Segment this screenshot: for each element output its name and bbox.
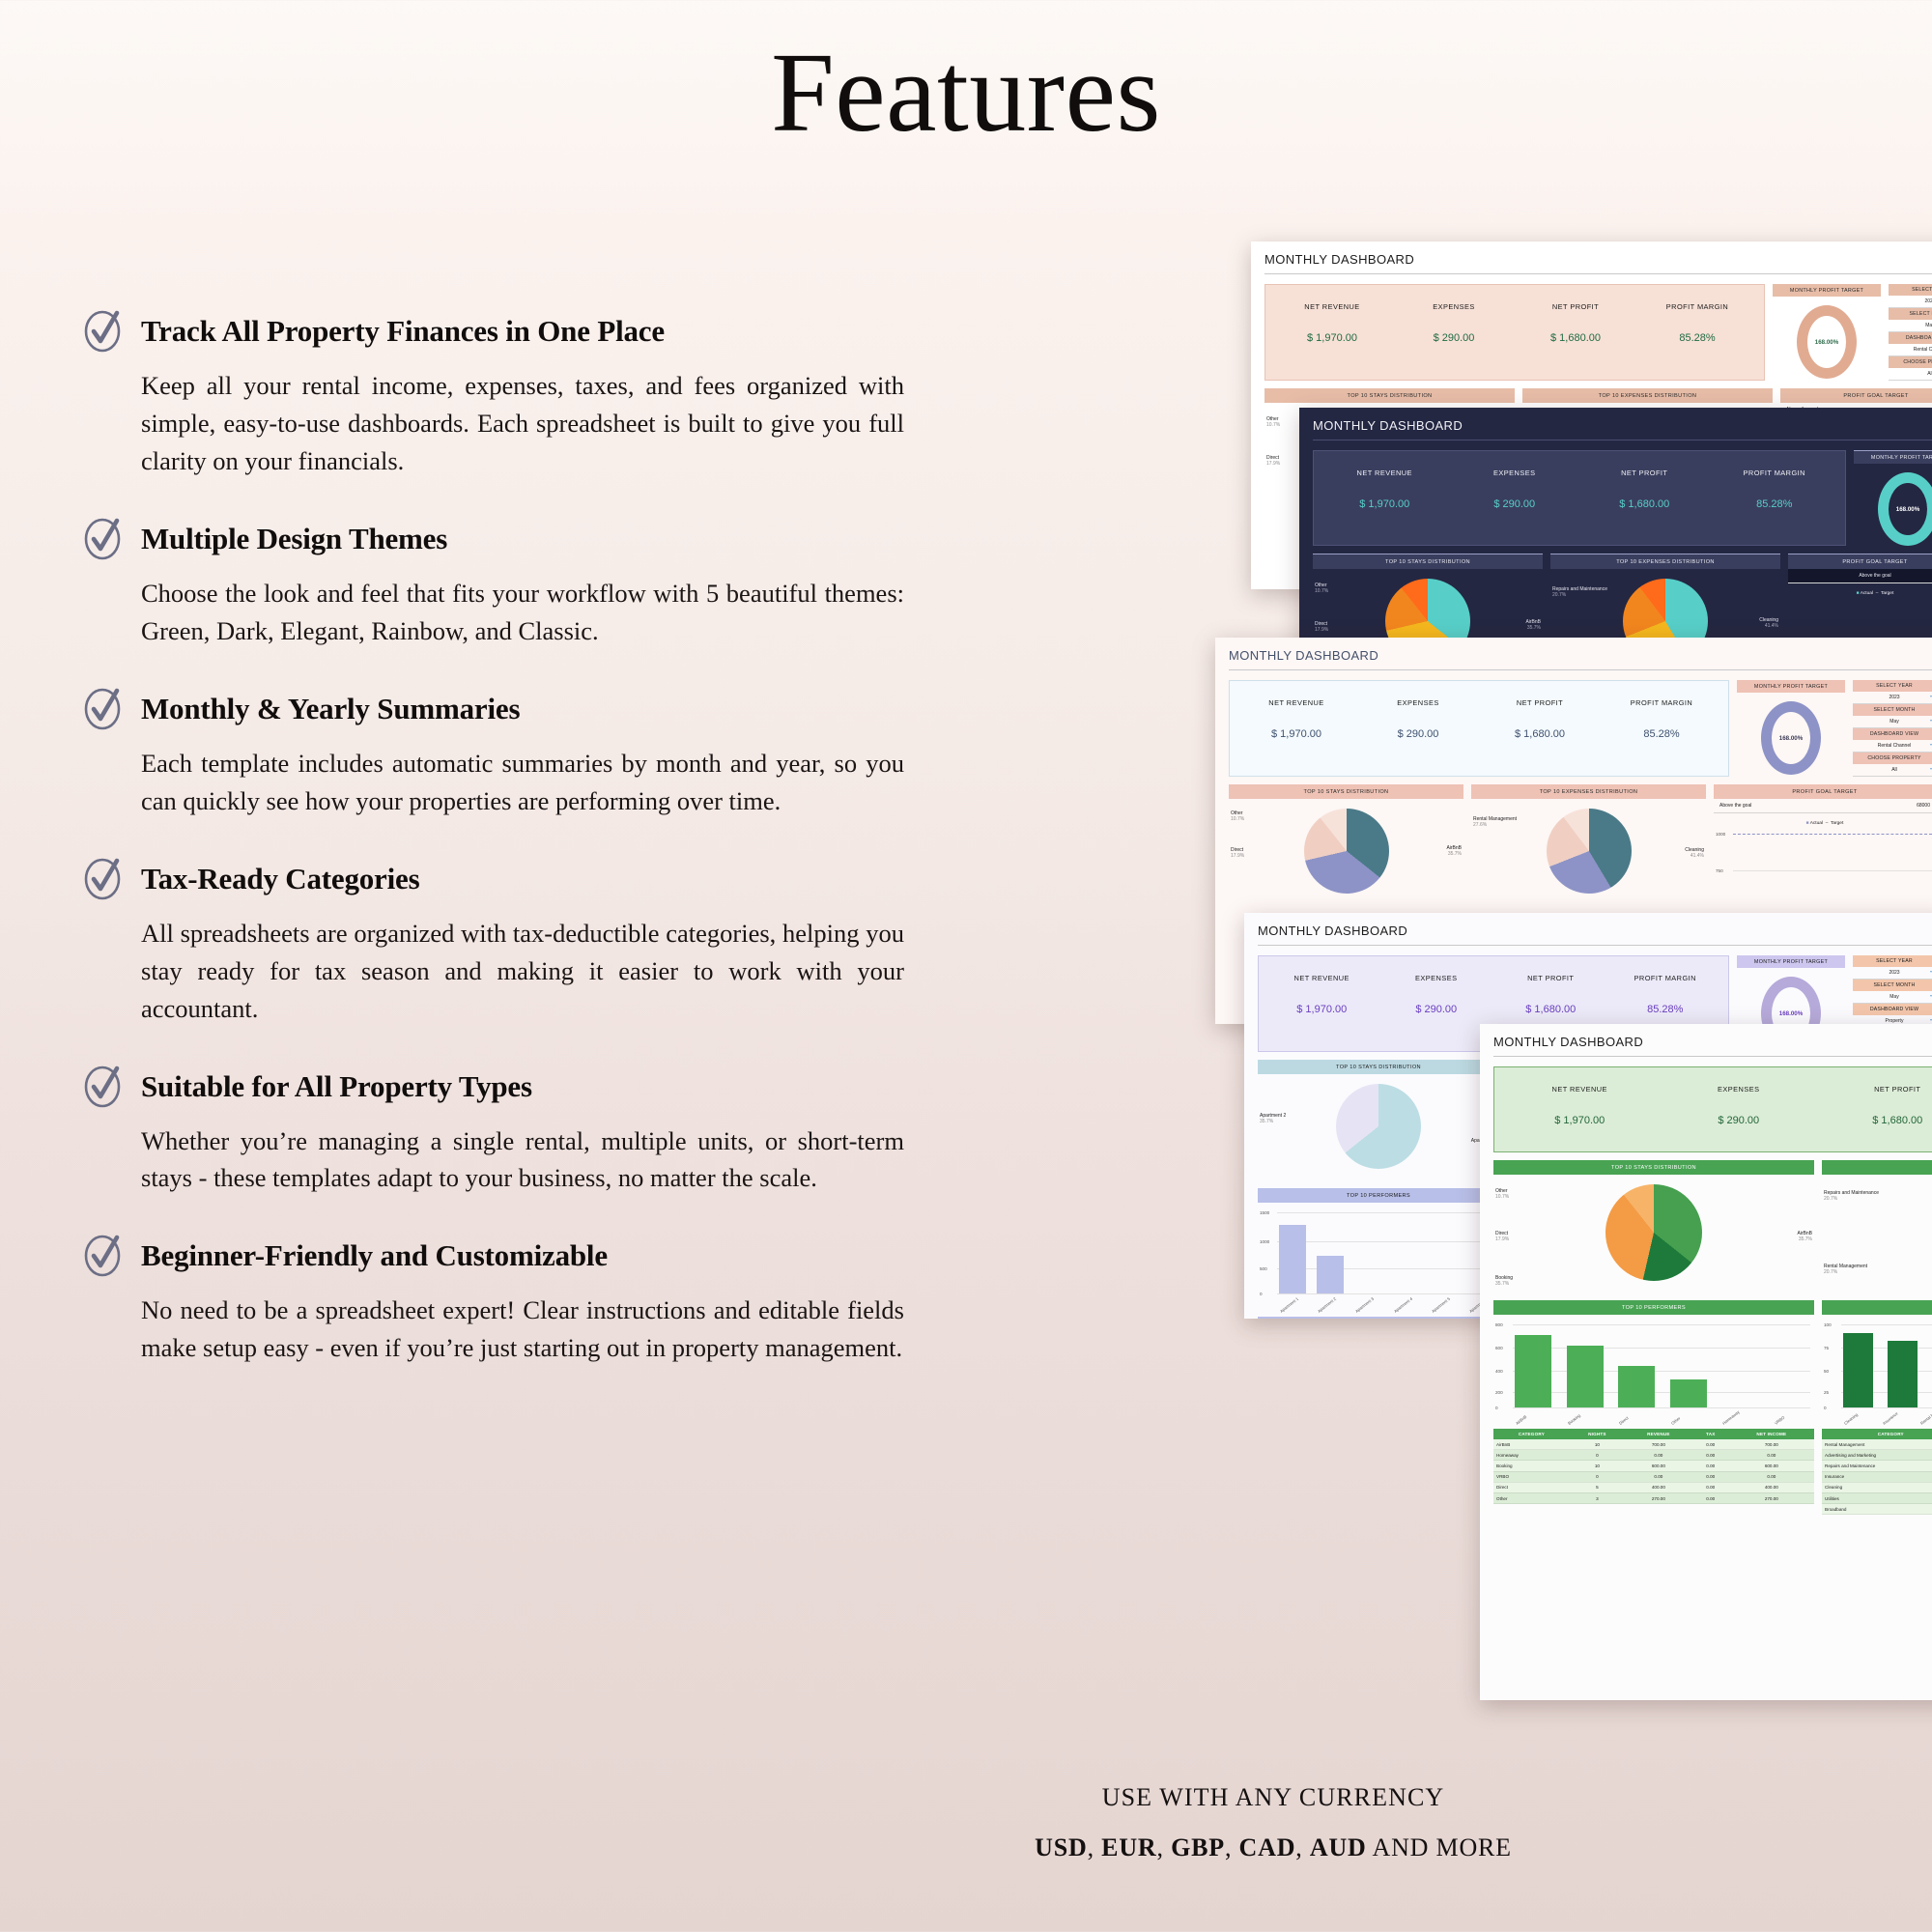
section-performers-label: TOP 10 PERFORMERS <box>1258 1188 1499 1203</box>
kpi-label: NET PROFIT <box>1515 302 1636 311</box>
goal-line: Above the goal <box>1788 569 1932 583</box>
currency-code-aud: AUD <box>1310 1833 1367 1861</box>
filter-label-year: SELECT YEAR <box>1853 680 1932 692</box>
bar-category-labels: CleaningInsuranceRental Management Repai… <box>1843 1422 1932 1427</box>
profit-target-panel: MONTHLY PROFIT TARGET 168.00% <box>1773 284 1881 381</box>
filter-panel: SELECT YEAR 2023 SELECT MONTH May DASHBO… <box>1853 680 1932 777</box>
kpi-expenses: EXPENSES $ 290.00 <box>1660 1085 1819 1126</box>
kpi-value: 85.28% <box>1601 728 1722 740</box>
feature-body: Whether you’re managing a single rental,… <box>141 1122 904 1198</box>
kpi-net-revenue: NET REVENUE $ 1,970.00 <box>1264 974 1379 1026</box>
donut-label-direct: Direct17.9% <box>1231 847 1244 860</box>
col-net-income: NET INCOME <box>1729 1429 1814 1439</box>
donut-label-other: Other10.7% <box>1231 810 1244 823</box>
performers-bar-chart: 1500 1000 500 0 Apartment 1Apartment 2Ap… <box>1258 1203 1499 1317</box>
kpi-label: EXPENSES <box>1393 302 1515 311</box>
section-goal: PROFIT GOAL TARGET Above the goal 68000 … <box>1714 784 1932 913</box>
kpi-label: NET REVENUE <box>1320 469 1450 477</box>
kpi-value: 85.28% <box>1636 332 1758 344</box>
kpi-expenses: EXPENSES $ 290.00 <box>1450 469 1580 520</box>
section-expenses: TOP 10 EXPENSES DISTRIBUTION Rental Mana… <box>1471 784 1706 913</box>
kpi-panel: NET REVENUE $ 1,970.00 EXPENSES $ 290.00… <box>1264 284 1765 381</box>
section-stays: TOP 10 STAYS DISTRIBUTION Other10.7% Dir… <box>1493 1160 1814 1515</box>
expenses-bar-chart: 100 75 50 25 0 CleaningInsuranceRental M… <box>1822 1315 1932 1429</box>
col-category: CATEGORY <box>1822 1429 1932 1439</box>
page-title: Features <box>0 0 1932 153</box>
table-row: Homeaway00.000.000.00 <box>1493 1450 1814 1461</box>
col-nights: NIGHTS <box>1570 1429 1625 1439</box>
kpi-label: NET REVENUE <box>1271 302 1393 311</box>
dashboard-title: MONTHLY DASHBOARD <box>1215 638 1932 669</box>
kpi-label: PROFIT MARGIN <box>1636 302 1758 311</box>
kpi-expenses: EXPENSES $ 290.00 <box>1393 302 1515 355</box>
feature-item: Multiple Design Themes Choose the look a… <box>81 517 912 650</box>
section-headers-row: TOP 10 STAYS DISTRIBUTION Other10.7% Dir… <box>1480 1152 1932 1515</box>
feature-heading-row: Tax-Ready Categories <box>81 857 912 901</box>
table-row: Direct5400.000.00400.00 <box>1493 1482 1814 1492</box>
currency-suffix: AND MORE <box>1367 1833 1512 1861</box>
goal-status: Above the goal <box>1859 573 1890 579</box>
section-stays-label: TOP 10 STAYS DISTRIBUTION <box>1229 784 1463 799</box>
feature-item: Beginner-Friendly and Customizable No ne… <box>81 1234 912 1367</box>
bar-category-labels: Apartment 1Apartment 2Apartment 3 Apartm… <box>1279 1310 1495 1315</box>
kpi-label: NET REVENUE <box>1236 698 1357 707</box>
filter-label-view: DASHBOARD VIEW <box>1889 332 1932 344</box>
kpi-value: $ 1,970.00 <box>1500 1115 1660 1126</box>
kpi-value: $ 1,680.00 <box>1479 728 1601 740</box>
bar-insurance <box>1888 1341 1918 1407</box>
col-revenue: REVENUE <box>1356 1317 1407 1319</box>
kpi-profit-margin: PROFIT MARGIN 85.28% <box>1710 469 1840 520</box>
col-tax: TAX <box>1692 1429 1729 1439</box>
feature-heading-row: Multiple Design Themes <box>81 517 912 561</box>
monthly-profit-target-label: MONTHLY PROFIT TARGET <box>1854 450 1932 464</box>
kpi-value: $ 290.00 <box>1393 332 1515 344</box>
filter-select-view[interactable]: Rental Channel <box>1853 740 1932 753</box>
kpi-label: NET PROFIT <box>1479 698 1601 707</box>
kpi-label: EXPENSES <box>1379 974 1494 982</box>
feature-body: No need to be a spreadsheet expert! Clea… <box>141 1292 904 1367</box>
donut-label-apartment-2: Apartment 235.7% <box>1260 1113 1286 1125</box>
gauge-value: 168.00% <box>1896 506 1919 513</box>
filter-select-view[interactable]: Rental Channel <box>1889 344 1932 356</box>
section-stays-label: TOP 10 STAYS DISTRIBUTION <box>1493 1160 1814 1175</box>
table-row: VRBO00.000.000.00 <box>1493 1471 1814 1482</box>
bar-booking <box>1567 1346 1604 1408</box>
kpi-label: PROFIT MARGIN <box>1601 698 1722 707</box>
currency-code-eur: EUR <box>1101 1833 1156 1861</box>
dashboard-body: NET REVENUE $ 1,970.00 EXPENSES $ 290.00… <box>1215 670 1932 777</box>
gauge-wrap: 168.00% <box>1854 467 1932 546</box>
performers-table: CATEGORY NIGHTS REVENUE TAX NET INCOME A… <box>1493 1429 1814 1504</box>
goal-head-label: PROFIT GOAL TARGET <box>1780 388 1932 403</box>
profit-gauge: 168.00% <box>1878 472 1932 546</box>
table-header-row: CATEGORY TOTAL COST TAX NET COST <box>1822 1429 1932 1439</box>
feature-heading-row: Monthly & Yearly Summaries <box>81 687 912 731</box>
kpi-label: EXPENSES <box>1450 469 1580 477</box>
bar-apartment-1 <box>1279 1225 1306 1293</box>
feature-title: Multiple Design Themes <box>141 522 447 556</box>
check-circle-icon <box>81 1065 124 1109</box>
kpi-value: 85.28% <box>1710 498 1840 510</box>
currency-headline: USE WITH ANY CURRENCY <box>974 1783 1573 1812</box>
kpi-value: $ 1,970.00 <box>1271 332 1393 344</box>
kpi-net-revenue: NET REVENUE $ 1,970.00 <box>1236 698 1357 751</box>
table-row: Broadband0.000.000.00 <box>1822 1504 1932 1515</box>
feature-title: Track All Property Finances in One Place <box>141 314 665 349</box>
filter-select-property[interactable]: All <box>1853 764 1932 777</box>
chart-legend: ■ Actual – Target <box>1788 583 1932 596</box>
kpi-value: $ 1,970.00 <box>1236 728 1357 740</box>
dashboard-title: MONTHLY DASHBOARD <box>1244 913 1932 945</box>
check-circle-icon <box>81 857 124 901</box>
section-expenses-label: TOP 10 EXPENSES DISTRIBUTION <box>1550 554 1780 569</box>
table-header-row: CATEGORY NIGHTS REVENUE TAX NET INCOME <box>1493 1429 1814 1439</box>
goal-head-label: PROFIT GOAL TARGET <box>1714 784 1932 799</box>
kpi-net-profit: NET PROFIT $ 1,680.00 <box>1818 1085 1932 1126</box>
check-circle-icon <box>81 687 124 731</box>
check-circle-icon <box>81 1234 124 1278</box>
sep: , <box>1295 1833 1310 1861</box>
kpi-profit-margin: PROFIT MARGIN 85.28% <box>1608 974 1723 1026</box>
table-row: AirBnB10700.000.00700.00 <box>1493 1439 1814 1450</box>
donut-label-repairs: Repairs and Maintenance20.7% <box>1824 1190 1879 1203</box>
dashboard-body: NET REVENUE $ 1,970.00 EXPENSES $ 290.00… <box>1251 274 1932 381</box>
currency-code-gbp: GBP <box>1171 1833 1225 1861</box>
feature-item: Monthly & Yearly Summaries Each template… <box>81 687 912 820</box>
sep: , <box>1156 1833 1171 1861</box>
kpi-expenses: EXPENSES $ 290.00 <box>1357 698 1479 751</box>
kpi-net-profit: NET PROFIT $ 1,680.00 <box>1515 302 1636 355</box>
expenses-table: CATEGORY TOTAL COST TAX NET COST Rental … <box>1822 1429 1932 1515</box>
kpi-net-revenue: NET REVENUE $ 1,970.00 <box>1271 302 1393 355</box>
kpi-label: NET PROFIT <box>1818 1085 1932 1094</box>
filter-select-month[interactable]: May <box>1889 320 1932 332</box>
check-circle-icon <box>81 309 124 354</box>
stays-donut-chart: Other10.7% Direct17.9% Booking35.7% AirB… <box>1493 1175 1814 1300</box>
stays-donut-chart: Other10.7% Direct17.9% AirBnB35.7% <box>1229 799 1463 913</box>
feature-body: Each template includes automatic summari… <box>141 745 904 820</box>
kpi-value: $ 1,680.00 <box>1579 498 1710 510</box>
kpi-net-profit: NET PROFIT $ 1,680.00 <box>1579 469 1710 520</box>
donut-label-direct: Direct17.9% <box>1495 1231 1509 1243</box>
monthly-profit-target-label: MONTHLY PROFIT TARGET <box>1737 955 1845 968</box>
section-stays-label: TOP 10 STAYS DISTRIBUTION <box>1264 388 1515 403</box>
filter-select-month[interactable]: May <box>1853 991 1932 1004</box>
kpi-panel: NET REVENUE $ 1,970.00 EXPENSES $ 290.00… <box>1493 1066 1932 1152</box>
check-circle-icon <box>81 517 124 561</box>
donut-label-direct: Direct17.9% <box>1315 621 1328 634</box>
kpi-value: $ 1,970.00 <box>1264 1004 1379 1015</box>
donut-label-rental-mgmt: Rental Management27.6% <box>1473 816 1517 829</box>
goal-status: Above the goal <box>1719 803 1751 809</box>
kpi-label: EXPENSES <box>1357 698 1479 707</box>
donut-label-other: Other10.7% <box>1495 1188 1509 1201</box>
profit-target-panel: MONTHLY PROFIT TARGET 168.00% <box>1854 450 1932 546</box>
feature-heading-row: Suitable for All Property Types <box>81 1065 912 1109</box>
section-expenses-label: TOP 10 EXPENSES DISTRIBUTION <box>1822 1160 1932 1175</box>
performers-bar-chart: 800 600 400 200 0 AirBnBBookingDirect Ot… <box>1493 1315 1814 1429</box>
feature-title: Tax-Ready Categories <box>141 862 419 896</box>
dashboard-title: MONTHLY DASHBOARD <box>1480 1024 1932 1056</box>
section-expenses-label: TOP 10 EXPENSES DISTRIBUTION <box>1522 388 1773 403</box>
donut-label-repairs: Repairs and Maintenance20.7% <box>1552 586 1607 599</box>
donut-label-other: Other10.7% <box>1266 416 1280 429</box>
profit-gauge: 168.00% <box>1761 701 1821 775</box>
performers-table: CATEGORY NIGHTS REVENUE TAX NET INCOME A… <box>1258 1317 1499 1319</box>
kpi-net-profit: NET PROFIT $ 1,680.00 <box>1493 974 1608 1026</box>
section-stays: TOP 10 STAYS DISTRIBUTION Apartment 235.… <box>1258 1060 1499 1319</box>
section-expenses-label: TOP 10 EXPENSES DISTRIBUTION <box>1471 784 1706 799</box>
features-list: Track All Property Finances in One Place… <box>81 309 912 1404</box>
currency-codes-line: USD, EUR, GBP, CAD, AUD AND MORE <box>974 1833 1573 1862</box>
filter-label-month: SELECT MONTH <box>1889 308 1932 320</box>
gauge-wrap: 168.00% <box>1773 299 1881 379</box>
stays-donut-chart: Apartment 235.7% Apartment 164.3% <box>1258 1074 1499 1188</box>
kpi-profit-margin: PROFIT MARGIN 85.28% <box>1636 302 1758 355</box>
kpi-value: $ 1,680.00 <box>1818 1115 1932 1126</box>
kpi-value: $ 1,970.00 <box>1320 498 1450 510</box>
filter-select-year[interactable]: 2023 <box>1853 967 1932 980</box>
section-performers-label: TOP 10 PERFORMERS <box>1493 1300 1814 1315</box>
dashboard-body: NET REVENUE $ 1,970.00 EXPENSES $ 290.00… <box>1299 440 1932 546</box>
donut-label-cleaning: Cleaning41.4% <box>1759 617 1778 630</box>
section-headers-row: TOP 10 STAYS DISTRIBUTION Other10.7% Dir… <box>1215 777 1932 913</box>
feature-heading-row: Beginner-Friendly and Customizable <box>81 1234 912 1278</box>
kpi-value: 85.28% <box>1608 1004 1723 1015</box>
filter-label-property: CHOOSE PROPERTY <box>1889 356 1932 368</box>
section-stays: TOP 10 STAYS DISTRIBUTION Other10.7% Dir… <box>1229 784 1463 913</box>
filter-label-month: SELECT MONTH <box>1853 980 1932 991</box>
filter-label-year: SELECT YEAR <box>1853 955 1932 967</box>
kpi-value: $ 290.00 <box>1660 1115 1819 1126</box>
table-row: Insurance80.000.0080.00 <box>1822 1471 1932 1482</box>
legend-target: Target <box>1881 591 1893 596</box>
kpi-net-revenue: NET REVENUE $ 1,970.00 <box>1320 469 1450 520</box>
filter-select-year[interactable]: 2023 <box>1889 296 1932 308</box>
sep: , <box>1225 1833 1239 1861</box>
col-revenue: REVENUE <box>1625 1429 1692 1439</box>
gauge-value: 168.00% <box>1779 1010 1803 1017</box>
feature-heading-row: Track All Property Finances in One Place <box>81 309 912 354</box>
bar-cleaning <box>1843 1333 1873 1407</box>
kpi-label: NET PROFIT <box>1579 469 1710 477</box>
donut-label-other: Other10.7% <box>1315 582 1328 595</box>
table-row: Other3270.000.00270.00 <box>1493 1492 1814 1503</box>
gauge-value: 168.00% <box>1815 339 1838 346</box>
feature-title: Suitable for All Property Types <box>141 1069 532 1104</box>
kpi-value: $ 290.00 <box>1379 1004 1494 1015</box>
filter-label-view: DASHBOARD VIEW <box>1853 728 1932 740</box>
kpi-label: NET REVENUE <box>1264 974 1379 982</box>
chart-legend: ■ Actual – Target <box>1714 813 1932 826</box>
kpi-label: NET PROFIT <box>1493 974 1608 982</box>
section-expenses-bar-label: TOP 10 EXPENSES <box>1822 1300 1932 1315</box>
expenses-donut-chart: Rental Management27.6% Cleaning41.4% <box>1471 799 1706 913</box>
feature-body: All spreadsheets are organized with tax-… <box>141 915 904 1028</box>
dashboard-body: NET REVENUE $ 1,970.00 EXPENSES $ 290.00… <box>1480 1057 1932 1152</box>
donut-label-airbnb: AirBnB35.7% <box>1525 619 1541 632</box>
kpi-label: PROFIT MARGIN <box>1608 974 1723 982</box>
filter-label-year: SELECT YEAR <box>1889 284 1932 296</box>
kpi-label: PROFIT MARGIN <box>1710 469 1840 477</box>
filter-select-property[interactable]: All <box>1889 368 1932 381</box>
kpi-expenses: EXPENSES $ 290.00 <box>1379 974 1494 1026</box>
filter-label-property: CHOOSE PROPERTY <box>1853 753 1932 764</box>
table-header-row: CATEGORY NIGHTS REVENUE TAX NET INCOME <box>1258 1317 1499 1319</box>
section-expenses: TOP 10 EXPENSES DISTRIBUTION Repairs and… <box>1822 1160 1932 1515</box>
feature-body: Choose the look and feel that fits your … <box>141 575 904 650</box>
table-row: Booking10600.000.00600.00 <box>1493 1461 1814 1471</box>
kpi-panel: NET REVENUE $ 1,970.00 EXPENSES $ 290.00… <box>1313 450 1846 546</box>
donut-label-booking: Booking35.7% <box>1495 1275 1513 1288</box>
bar-direct <box>1618 1366 1655 1407</box>
dashboard-title: MONTHLY DASHBOARD <box>1251 241 1932 273</box>
legend-actual: Actual <box>1861 591 1873 596</box>
section-stays-label: TOP 10 STAYS DISTRIBUTION <box>1258 1060 1499 1074</box>
currency-footer: USE WITH ANY CURRENCY USD, EUR, GBP, CAD… <box>974 1783 1573 1862</box>
kpi-value: $ 1,680.00 <box>1515 332 1636 344</box>
donut-label-cleaning: Cleaning41.4% <box>1685 847 1704 860</box>
bar-apartment-2 <box>1317 1256 1344 1293</box>
monthly-profit-target-label: MONTHLY PROFIT TARGET <box>1737 680 1845 693</box>
table-row: Cleaning90.000.0090.00 <box>1822 1482 1932 1492</box>
feature-title: Beginner-Friendly and Customizable <box>141 1238 608 1273</box>
table-row: Repairs and Maintenance60.000.0060.00 <box>1822 1461 1932 1471</box>
filter-panel: SELECT YEAR 2023 SELECT MONTH May DASHBO… <box>1889 284 1932 381</box>
dashboard-title: MONTHLY DASHBOARD <box>1299 408 1932 440</box>
bar-airbnb <box>1515 1335 1551 1407</box>
currency-code-usd: USD <box>1035 1833 1087 1861</box>
table-row: Utilities0.000.000.00 <box>1822 1492 1932 1503</box>
donut-label-airbnb: AirBnB35.7% <box>1797 1231 1812 1243</box>
goal-head-label: PROFIT GOAL TARGET <box>1788 554 1932 569</box>
feature-body: Keep all your rental income, expenses, t… <box>141 367 904 480</box>
col-tax: TAX <box>1407 1317 1435 1319</box>
monthly-profit-target-label: MONTHLY PROFIT TARGET <box>1773 284 1881 297</box>
donut-label-direct: Direct17.9% <box>1266 455 1280 468</box>
feature-item: Track All Property Finances in One Place… <box>81 309 912 480</box>
col-nights: NIGHTS <box>1315 1317 1356 1319</box>
goal-line: Above the goal 68000 <box>1714 799 1932 813</box>
kpi-panel: NET REVENUE $ 1,970.00 EXPENSES $ 290.00… <box>1229 680 1729 777</box>
currency-code-cad: CAD <box>1239 1833 1296 1861</box>
section-stays-label: TOP 10 STAYS DISTRIBUTION <box>1313 554 1543 569</box>
bar-category-labels: AirBnBBookingDirect OtherHomeawayVRBO <box>1515 1422 1810 1427</box>
kpi-value: $ 1,680.00 <box>1493 1004 1608 1015</box>
filter-select-year[interactable]: 2023 <box>1853 692 1932 704</box>
dashboard-mockup-green: MONTHLY DASHBOARD NET REVENUE $ 1,970.00… <box>1480 1024 1932 1700</box>
kpi-net-profit: NET PROFIT $ 1,680.00 <box>1479 698 1601 751</box>
kpi-label: NET REVENUE <box>1500 1085 1660 1094</box>
filter-label-view: DASHBOARD VIEW <box>1853 1004 1932 1015</box>
gauge-value: 168.00% <box>1779 735 1803 742</box>
table-row: Advertising and Marketing0.000.000.00 <box>1822 1450 1932 1461</box>
sep: , <box>1088 1833 1102 1861</box>
donut-label-airbnb: AirBnB35.7% <box>1446 845 1462 858</box>
filter-label-month: SELECT MONTH <box>1853 704 1932 716</box>
kpi-profit-margin: PROFIT MARGIN 85.28% <box>1601 698 1722 751</box>
feature-title: Monthly & Yearly Summaries <box>141 692 520 726</box>
donut-label-rental-mgmt: Rental Management20.7% <box>1824 1264 1867 1276</box>
goal-value: 68000 <box>1917 803 1930 809</box>
table-row: Rental Management60.000.0060.00 <box>1822 1439 1932 1450</box>
profit-gauge: 168.00% <box>1797 305 1857 379</box>
feature-item: Suitable for All Property Types Whether … <box>81 1065 912 1198</box>
gauge-wrap: 168.00% <box>1737 696 1845 775</box>
goal-line-chart: 1000 750 <box>1714 826 1932 884</box>
kpi-value: $ 290.00 <box>1450 498 1580 510</box>
expenses-donut-chart: Repairs and Maintenance20.7% Rental Mana… <box>1822 1175 1932 1300</box>
kpi-label: EXPENSES <box>1660 1085 1819 1094</box>
col-category: CATEGORY <box>1493 1429 1570 1439</box>
profit-target-panel: MONTHLY PROFIT TARGET 168.00% <box>1737 680 1845 777</box>
feature-item: Tax-Ready Categories All spreadsheets ar… <box>81 857 912 1028</box>
kpi-net-revenue: NET REVENUE $ 1,970.00 <box>1500 1085 1660 1126</box>
kpi-value: $ 290.00 <box>1357 728 1479 740</box>
col-category: CATEGORY <box>1258 1317 1315 1319</box>
filter-select-month[interactable]: May <box>1853 716 1932 728</box>
